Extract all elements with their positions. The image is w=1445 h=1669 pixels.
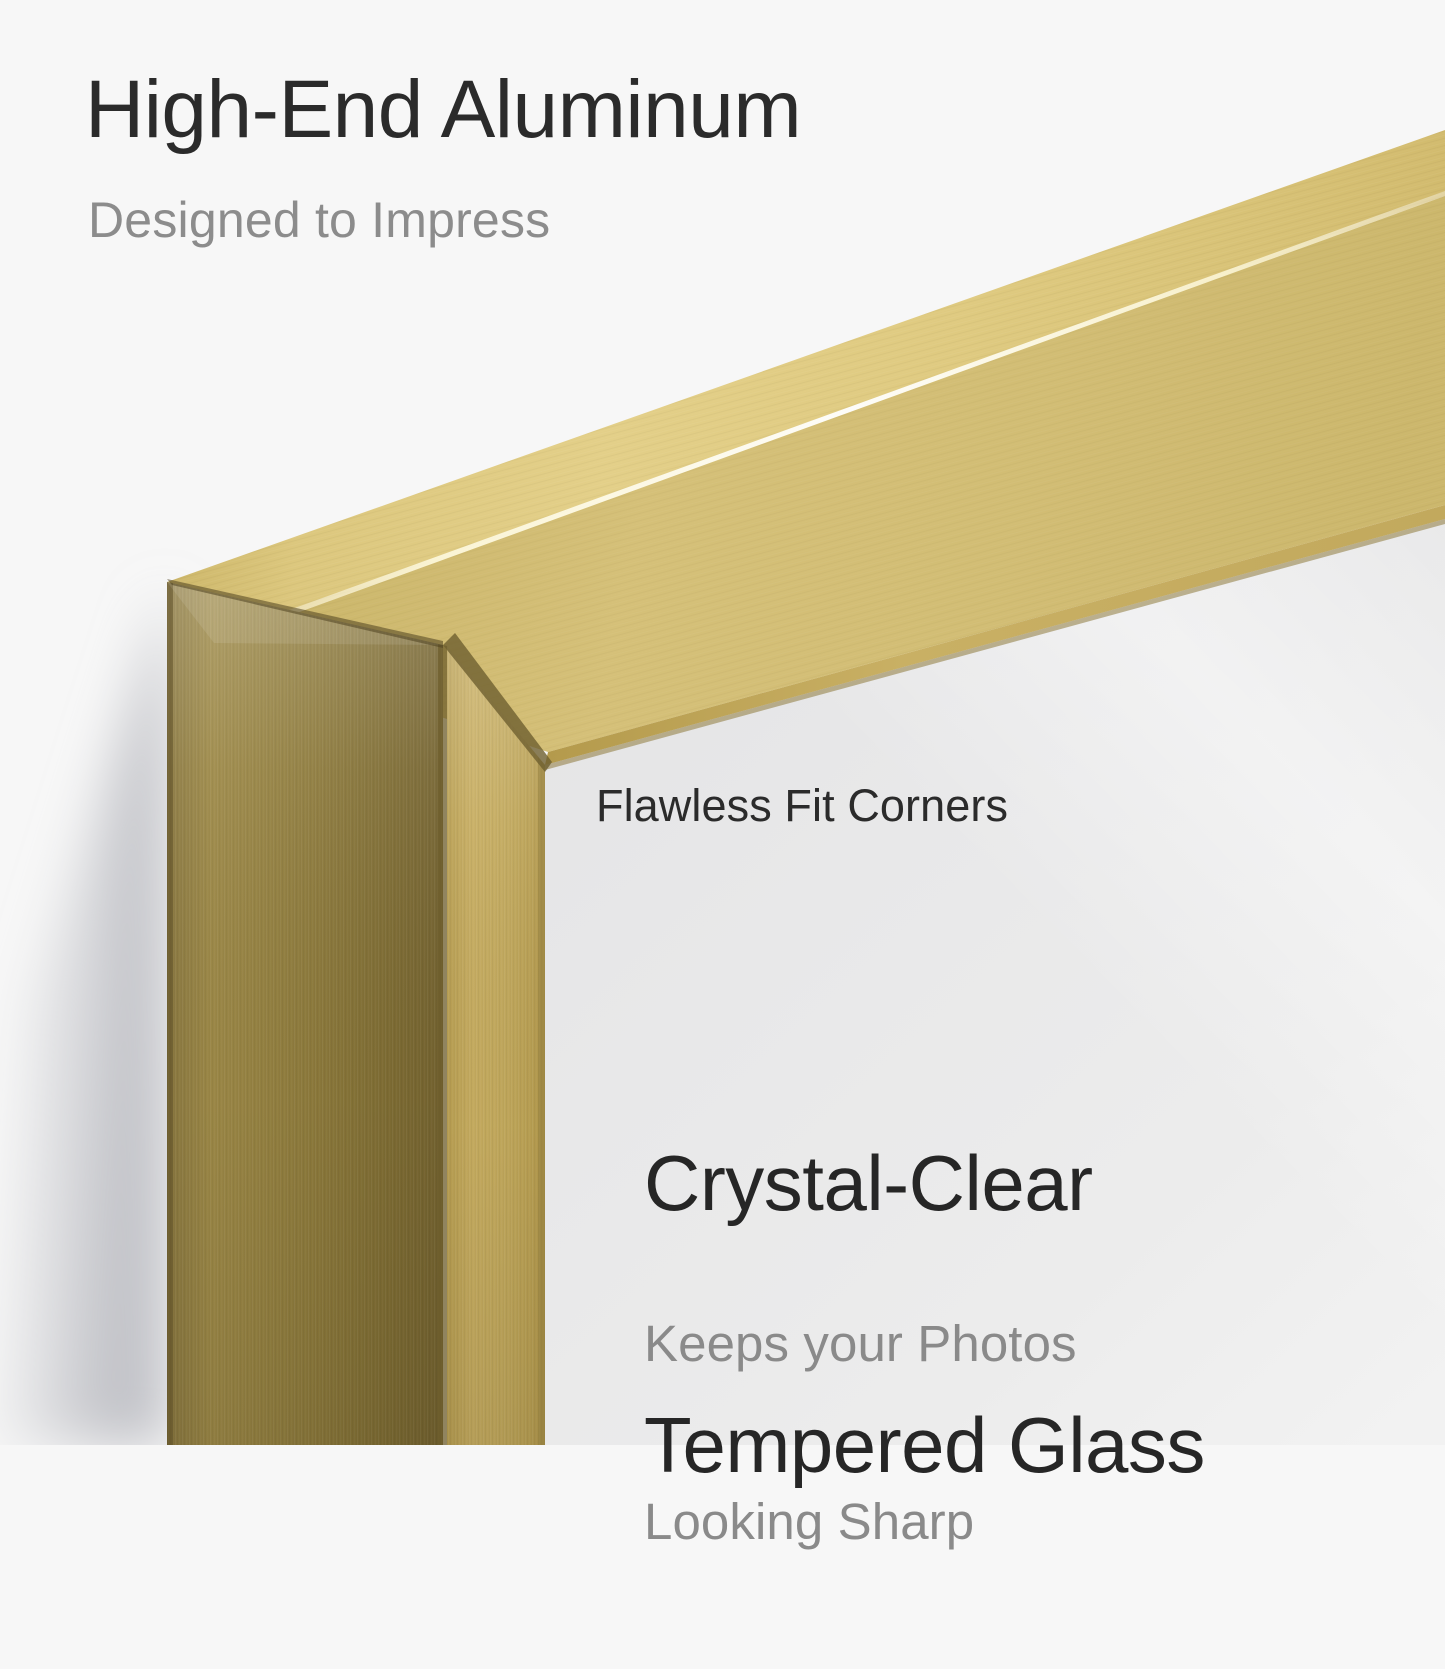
callout-glass-sub-line2: Looking Sharp <box>644 1492 1077 1551</box>
frame-left-rail-seam <box>438 644 447 1445</box>
product-marketing-image: High-End Aluminum Designed to Impress Fl… <box>0 0 1445 1445</box>
callout-flawless-fit-corners: Flawless Fit Corners <box>596 780 1008 832</box>
callout-glass-sub-line1: Keeps your Photos <box>644 1314 1077 1373</box>
frame-left-inner-shadow-line <box>538 757 545 1445</box>
page-subtitle: Designed to Impress <box>88 192 550 250</box>
page-title: High-End Aluminum <box>85 66 801 155</box>
callout-glass-subtitle: Keeps your Photos Looking Sharp <box>644 1196 1077 1669</box>
frame-left-outer-edge <box>167 582 173 1445</box>
